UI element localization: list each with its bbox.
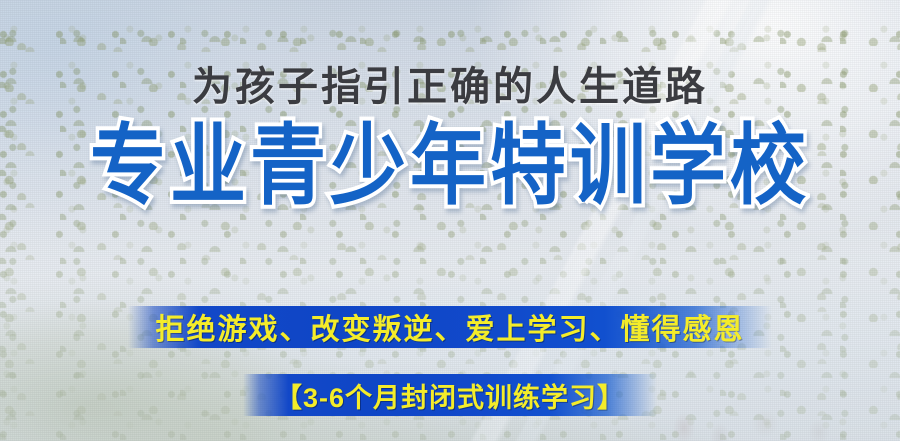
banner-subheadline: 为孩子指引正确的人生道路 [0, 65, 900, 110]
feature-band-label: 拒绝游戏、改变叛逆、爱上学习、懂得感恩 [155, 306, 744, 348]
promo-banner: 为孩子指引正确的人生道路 专业青少年特训学校 拒绝游戏、改变叛逆、爱上学习、懂得… [0, 0, 900, 441]
banner-content: 为孩子指引正确的人生道路 专业青少年特训学校 拒绝游戏、改变叛逆、爱上学习、懂得… [0, 0, 900, 441]
duration-band-label: 【3-6个月封闭式训练学习】 [275, 376, 625, 415]
banner-feature-band: 拒绝游戏、改变叛逆、爱上学习、懂得感恩 [128, 306, 772, 348]
banner-duration-band: 【3-6个月封闭式训练学习】 [243, 374, 657, 416]
banner-headline: 专业青少年特训学校 [0, 119, 900, 214]
